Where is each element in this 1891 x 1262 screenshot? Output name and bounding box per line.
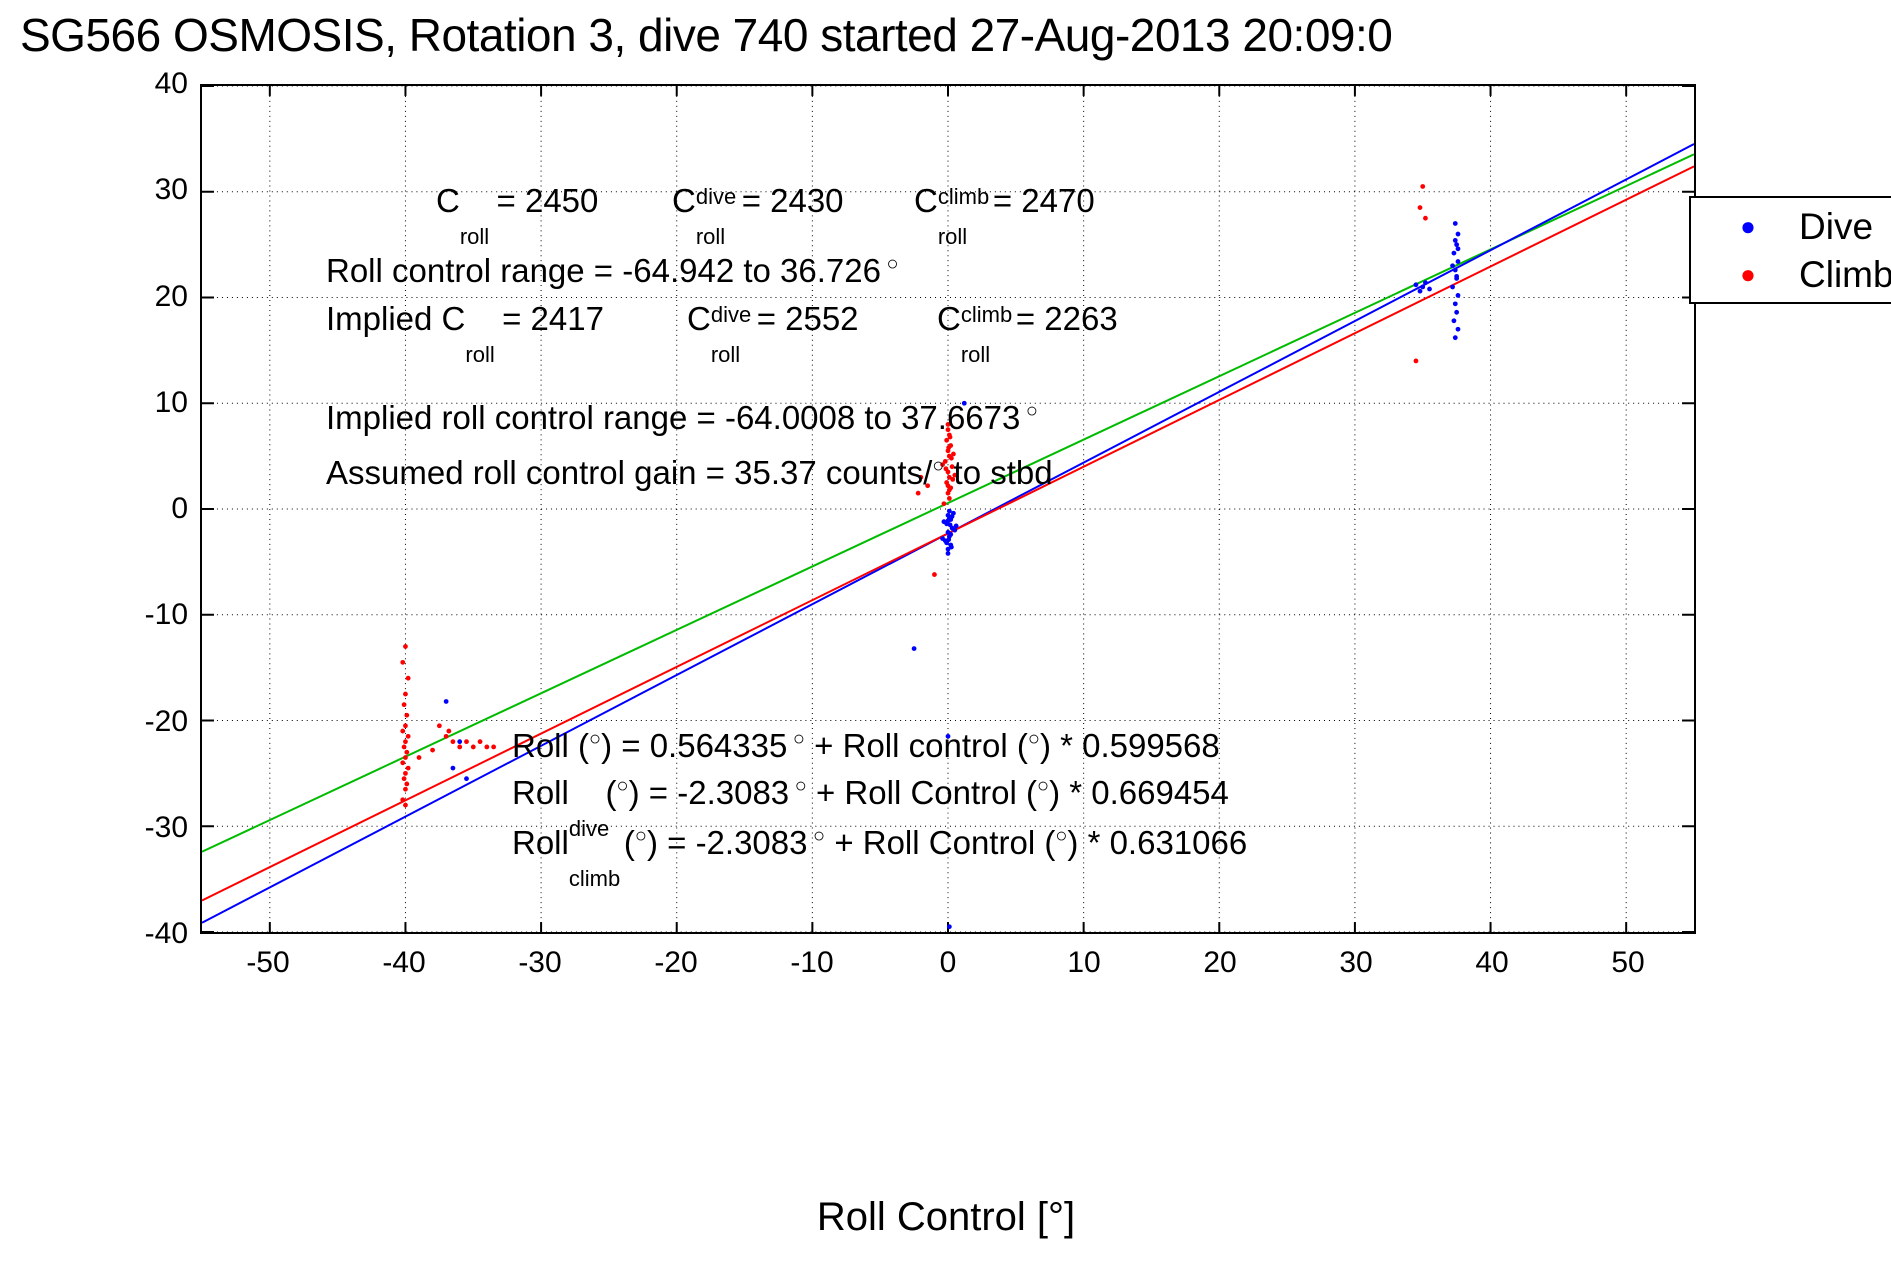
annotation-implied-roll-control-range: Implied roll control range = -64.0008 to… [326,401,1038,434]
x-tick-label: 50 [1568,948,1688,978]
degree-icon: ○ [787,728,805,750]
x-tick-label: 10 [1024,948,1144,978]
eq3-a: ( [624,824,635,861]
eq3-label: Roll [512,824,569,861]
eq3-b: ) = -2.3083 [647,824,808,861]
degree-icon: ○ [1037,775,1049,797]
implied-value: = 2417 [502,300,604,337]
x-tick-label: -30 [480,948,600,978]
x-tick-label: 30 [1296,948,1416,978]
y-tick-label: 40 [68,69,188,99]
implied-climb-symbol: C [937,300,961,337]
implied-climb-superscript: climb [961,304,1012,326]
x-tick-label: -50 [208,948,328,978]
degree-icon: ○ [1055,825,1067,847]
y-tick-label: 0 [68,494,188,524]
implied-climb-value: = 2263 [1016,300,1118,337]
degree-icon: ○ [808,825,826,847]
x-axis-label: Roll Control [°] [817,1195,1075,1240]
c-dive-value: = 2430 [742,182,844,219]
x-tick-label: -40 [344,948,464,978]
eq2-b: ) = -2.3083 [629,774,790,811]
implied-subscript: roll [465,344,494,366]
eq1-d: ) * 0.599568 [1040,727,1220,764]
y-tick-label: -40 [68,919,188,949]
degree-icon: ○ [1028,728,1040,750]
assumed-gain-text-b: to stbd [954,454,1053,491]
legend-marker-dive: ● [1703,213,1793,239]
eq2-a: ( [606,774,617,811]
eq1-a: Roll ( [512,727,589,764]
annotation-implied-c-climb: Crollclimb = 2263 [937,302,1118,335]
annotation-c-roll: Croll = 2450 [436,184,598,217]
page-title: SG566 OSMOSIS, Rotation 3, dive 740 star… [20,8,1392,62]
degree-icon: ○ [881,253,899,275]
legend-label-dive: Dive [1793,208,1873,245]
c-dive-superscript: dive [696,186,736,208]
c-dive-symbol: C [672,182,696,219]
degree-icon: ○ [789,775,807,797]
legend-item-climb[interactable]: ● Climb [1691,250,1891,298]
implied-roll-control-range-text: Implied roll control range = -64.0008 to… [326,399,1020,436]
eq3-subscript: climb [569,868,620,890]
eq1-c: + Roll control ( [814,727,1028,764]
c-roll-subscript: roll [460,226,489,248]
degree-icon: ○ [1020,400,1038,422]
eq3-c: + Roll Control ( [834,824,1055,861]
implied-prefix: Implied C [326,300,465,337]
c-roll-value: = 2450 [497,182,599,219]
c-dive-subscript: roll [696,226,725,248]
degree-icon: ○ [932,455,944,477]
x-tick-label: 40 [1432,948,1552,978]
degree-icon: ○ [635,825,647,847]
annotation-assumed-gain: Assumed roll control gain = 35.37 counts… [326,456,1053,489]
x-tick-label: -20 [616,948,736,978]
equation-roll-combined: Roll (○) = 0.564335 ○ + Roll control (○)… [512,729,1220,762]
eq3-d: ) * 0.631066 [1067,824,1247,861]
c-climb-symbol: C [914,182,938,219]
eq2-c: + Roll Control ( [816,774,1037,811]
implied-dive-subscript: roll [711,344,740,366]
plot-frame: Croll = 2450 Crolldive = 2430 Crollclimb… [200,84,1696,934]
assumed-gain-text-a: Assumed roll control gain = 35.37 counts… [326,454,932,491]
y-tick-label: 30 [68,175,188,205]
implied-dive-symbol: C [687,300,711,337]
c-roll-symbol: C [436,182,460,219]
x-tick-label: -10 [752,948,872,978]
eq1-b: ) = 0.564335 [601,727,787,764]
eq2-label: Roll [512,774,569,811]
x-tick-label: 20 [1160,948,1280,978]
equation-roll-dive: Rolldive (○) = -2.3083 ○ + Roll Control … [512,776,1229,809]
y-tick-label: 10 [68,388,188,418]
annotation-roll-control-range: Roll control range = -64.942 to 36.726 ○ [326,254,899,287]
implied-climb-subscript: roll [961,344,990,366]
implied-dive-value: = 2552 [757,300,859,337]
legend-marker-climb: ● [1703,261,1793,287]
annotation-c-roll-dive: Crolldive = 2430 [672,184,844,217]
c-climb-subscript: roll [938,226,967,248]
x-tick-label: 0 [888,948,1008,978]
y-tick-label: -20 [68,707,188,737]
annotation-implied-c-dive: Crolldive = 2552 [687,302,859,335]
legend-label-climb: Climb [1793,256,1891,293]
annotation-implied-c-roll: Implied Croll = 2417 [326,302,604,335]
roll-control-range-text: Roll control range = -64.942 to 36.726 [326,252,881,289]
equation-roll-climb: Rollclimb (○) = -2.3083 ○ + Roll Control… [512,826,1247,859]
c-climb-value: = 2470 [993,182,1095,219]
legend[interactable]: ● Dive ● Climb [1689,196,1891,304]
y-tick-label: -10 [68,600,188,630]
y-tick-label: 20 [68,282,188,312]
degree-icon: ○ [589,728,601,750]
eq2-d: ) * 0.669454 [1049,774,1229,811]
degree-icon: ○ [617,775,629,797]
annotation-c-roll-climb: Crollclimb = 2470 [914,184,1095,217]
y-tick-label: -30 [68,813,188,843]
implied-dive-superscript: dive [711,304,751,326]
c-climb-superscript: climb [938,186,989,208]
legend-item-dive[interactable]: ● Dive [1691,202,1891,250]
